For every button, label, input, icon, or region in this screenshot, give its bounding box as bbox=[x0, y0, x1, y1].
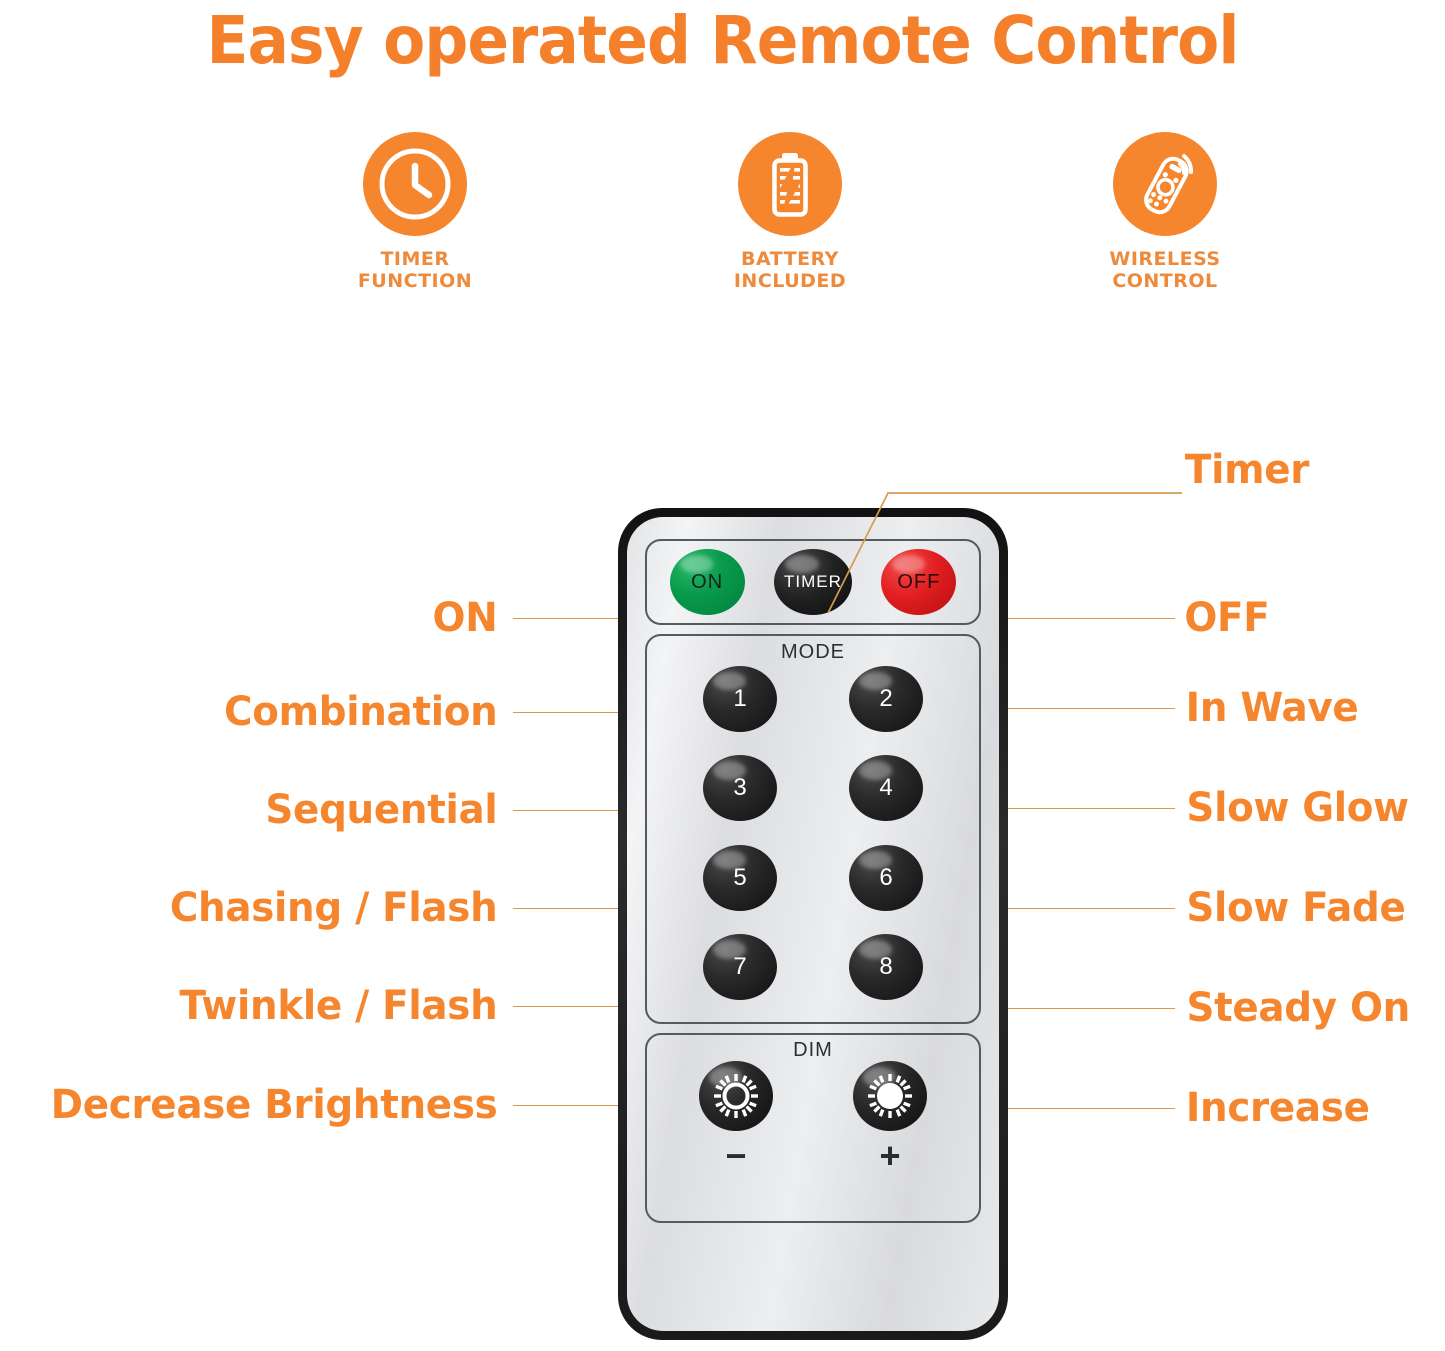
feature-label: WIRELESS CONTROL bbox=[1109, 248, 1220, 292]
mode-button-1[interactable]: 1 bbox=[703, 666, 777, 732]
sun-filled-icon bbox=[864, 1070, 916, 1122]
mode-button-7[interactable]: 7 bbox=[703, 934, 777, 1000]
mode-button-label: 3 bbox=[733, 774, 746, 802]
dim-panel: DIM bbox=[645, 1033, 981, 1223]
dim-button-row bbox=[647, 1061, 979, 1131]
mode-button-label: 4 bbox=[879, 774, 892, 802]
callout-slow-glow: Slow Glow bbox=[1186, 785, 1408, 831]
dim-increase-sign: + bbox=[853, 1141, 927, 1171]
callout-sequential: Sequential bbox=[8, 787, 498, 833]
feature-wireless-control: WIRELESS CONTROL bbox=[1050, 132, 1280, 292]
mode-button-label: 6 bbox=[879, 864, 892, 892]
mode-button-label: 8 bbox=[879, 953, 892, 981]
callout-in-wave: In Wave bbox=[1186, 685, 1359, 731]
dim-decrease-sign: − bbox=[699, 1141, 773, 1171]
callout-timer: Timer bbox=[1185, 447, 1309, 493]
callout-combination: Combination bbox=[8, 689, 498, 735]
mode-button-label: 5 bbox=[733, 864, 746, 892]
sun-hollow-icon bbox=[710, 1070, 762, 1122]
callout-off: OFF bbox=[1184, 595, 1269, 641]
leader-line-timer bbox=[810, 466, 1190, 626]
dim-sign-row: − + bbox=[647, 1131, 979, 1171]
mode-button-label: 1 bbox=[733, 685, 746, 713]
dim-decrease-button[interactable] bbox=[699, 1061, 773, 1131]
mode-button-4[interactable]: 4 bbox=[849, 755, 923, 821]
mode-button-5[interactable]: 5 bbox=[703, 845, 777, 911]
feature-battery-included: BATTERY INCLUDED bbox=[675, 132, 905, 292]
callout-on: ON bbox=[8, 595, 498, 641]
infographic-page: Easy operated Remote Control TIMER FUNCT… bbox=[0, 0, 1445, 1351]
feature-label: BATTERY INCLUDED bbox=[734, 248, 846, 292]
remote-control-device: ON TIMER OFF MODE 1 bbox=[618, 508, 1008, 1340]
callout-decrease-brightness: Decrease Brightness bbox=[8, 1082, 498, 1128]
remote-control-icon bbox=[1113, 132, 1217, 236]
mode-panel: MODE 1 2 3 4 bbox=[645, 634, 981, 1024]
mode-button-6[interactable]: 6 bbox=[849, 845, 923, 911]
callout-twinkle-flash: Twinkle / Flash bbox=[8, 983, 498, 1029]
battery-icon bbox=[738, 132, 842, 236]
feature-badges-row: TIMER FUNCTION BATTERY INCLUDED bbox=[300, 132, 1280, 312]
callout-slow-fade: Slow Fade bbox=[1186, 885, 1405, 931]
mode-button-2[interactable]: 2 bbox=[849, 666, 923, 732]
mode-button-8[interactable]: 8 bbox=[849, 934, 923, 1000]
dim-section-title: DIM bbox=[647, 1039, 979, 1062]
mode-button-label: 2 bbox=[879, 685, 892, 713]
mode-section-title: MODE bbox=[647, 641, 979, 664]
mode-button-3[interactable]: 3 bbox=[703, 755, 777, 821]
remote-faceplate: ON TIMER OFF MODE 1 bbox=[627, 517, 999, 1331]
dim-increase-button[interactable] bbox=[853, 1061, 927, 1131]
feature-label: TIMER FUNCTION bbox=[358, 248, 472, 292]
page-title: Easy operated Remote Control bbox=[51, 2, 1395, 79]
callout-chasing-flash: Chasing / Flash bbox=[8, 885, 498, 931]
on-button[interactable]: ON bbox=[670, 549, 745, 615]
callout-steady-on: Steady On bbox=[1186, 985, 1410, 1031]
callout-increase: Increase bbox=[1186, 1085, 1370, 1131]
mode-button-label: 7 bbox=[733, 953, 746, 981]
clock-icon bbox=[363, 132, 467, 236]
feature-timer-function: TIMER FUNCTION bbox=[300, 132, 530, 292]
on-button-label: ON bbox=[691, 571, 723, 594]
